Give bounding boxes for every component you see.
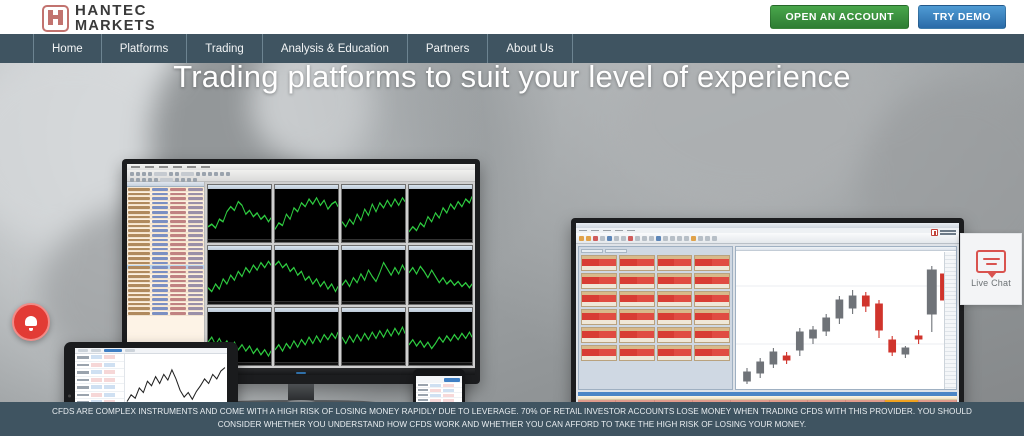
viking-workspace — [576, 244, 959, 392]
main-navigation: Home Platforms Trading Analysis & Educat… — [0, 34, 1024, 63]
monitor-bezel-right — [571, 218, 964, 403]
metatrader-platform-ui — [127, 164, 475, 368]
price-tile[interactable] — [581, 309, 617, 325]
price-tile[interactable] — [619, 255, 655, 271]
mt4-chart-window[interactable] — [274, 307, 339, 366]
bell-icon — [25, 316, 37, 329]
viking-price-tiles-panel — [578, 246, 733, 390]
mt4-chart-window[interactable] — [341, 307, 406, 366]
monitor-screen-left — [127, 164, 475, 368]
price-tile[interactable] — [657, 327, 693, 343]
live-chat-label: Live Chat — [971, 278, 1011, 288]
hero-banner: Trading platforms to suit your level of … — [0, 63, 1024, 403]
try-demo-button[interactable]: TRY DEMO — [918, 5, 1006, 29]
tablet-screen — [75, 348, 227, 403]
tablet-watchlist[interactable] — [75, 354, 125, 403]
top-actions: OPEN AN ACCOUNT TRY DEMO — [770, 5, 1006, 29]
page-root: HANTEC MARKETS OPEN AN ACCOUNT TRY DEMO … — [0, 0, 1024, 436]
open-an-account-button[interactable]: OPEN AN ACCOUNT — [770, 5, 908, 29]
price-tile[interactable] — [694, 309, 730, 325]
viking-candlestick-chart[interactable] — [735, 246, 957, 390]
candlestick-series — [736, 252, 956, 390]
logo-line-2: MARKETS — [75, 19, 156, 34]
smartphone-device — [413, 369, 465, 403]
phone-quotes-list[interactable] — [416, 383, 462, 403]
site-logo[interactable]: HANTEC MARKETS — [42, 3, 156, 34]
viking-price-axis — [944, 252, 956, 389]
phone-app-header — [416, 376, 462, 383]
hantec-h-logo-icon — [42, 5, 69, 32]
nav-item-trading[interactable]: Trading — [186, 34, 262, 63]
viking-trader-logo-icon — [931, 229, 956, 236]
mt4-chart-window[interactable] — [207, 245, 272, 304]
viking-trader-platform-ui — [576, 223, 959, 403]
nav-item-analysis-education[interactable]: Analysis & Education — [262, 34, 407, 63]
viking-toolbar — [576, 233, 959, 244]
price-tile[interactable] — [581, 273, 617, 289]
mt4-chart-window[interactable] — [408, 307, 473, 366]
tablet-line-chart[interactable] — [125, 354, 227, 403]
notification-bell-button[interactable] — [12, 303, 50, 341]
price-tile[interactable] — [694, 327, 730, 343]
mt4-chart-window[interactable] — [341, 245, 406, 304]
viking-price-tile-grid — [581, 255, 730, 361]
nav-item-about-us[interactable]: About Us — [487, 34, 572, 63]
mt4-chart-window[interactable] — [408, 184, 473, 243]
tablet-device — [64, 342, 238, 403]
monitor-screen-right — [576, 223, 959, 403]
price-tile[interactable] — [657, 255, 693, 271]
price-tile[interactable] — [657, 309, 693, 325]
price-tile[interactable] — [694, 291, 730, 307]
logo-line-1: HANTEC — [75, 3, 156, 18]
price-tile[interactable] — [657, 273, 693, 289]
hero-headline: Trading platforms to suit your level of … — [0, 63, 1024, 95]
mt4-chart-window[interactable] — [408, 245, 473, 304]
top-bar: HANTEC MARKETS OPEN AN ACCOUNT TRY DEMO — [0, 0, 1024, 34]
nav-item-home[interactable]: Home — [33, 34, 101, 63]
price-tile[interactable] — [619, 273, 655, 289]
mt4-toolbar — [127, 170, 475, 182]
desktop-monitor-viking-trader — [571, 218, 964, 403]
risk-warning-bar: CFDS ARE COMPLEX INSTRUMENTS AND COME WI… — [0, 402, 1024, 436]
nav-item-partners[interactable]: Partners — [407, 34, 487, 63]
price-tile[interactable] — [657, 291, 693, 307]
price-tile[interactable] — [657, 345, 693, 361]
price-tile[interactable] — [581, 255, 617, 271]
nav-item-platforms[interactable]: Platforms — [101, 34, 187, 63]
price-tile[interactable] — [694, 345, 730, 361]
mt4-chart-window[interactable] — [341, 184, 406, 243]
mt4-market-watch-panel — [127, 182, 205, 368]
price-tile[interactable] — [694, 255, 730, 271]
mt4-chart-grid — [205, 182, 475, 368]
mt4-workspace — [127, 182, 475, 368]
tablet-bezel — [64, 342, 238, 403]
price-tile[interactable] — [581, 327, 617, 343]
price-tile[interactable] — [581, 345, 617, 361]
mt4-chart-window[interactable] — [207, 184, 272, 243]
price-tile[interactable] — [694, 273, 730, 289]
mt4-chart-window[interactable] — [274, 245, 339, 304]
mt4-chart-window[interactable] — [274, 184, 339, 243]
chat-bubble-icon — [976, 250, 1006, 273]
price-tile[interactable] — [619, 327, 655, 343]
price-tile[interactable] — [619, 291, 655, 307]
logo-wordmark: HANTEC MARKETS — [75, 3, 156, 34]
phone-screen — [416, 376, 462, 403]
phone-bezel — [413, 369, 465, 403]
live-chat-widget[interactable]: Live Chat — [960, 233, 1022, 305]
price-tile[interactable] — [581, 291, 617, 307]
risk-warning-text: CFDS ARE COMPLEX INSTRUMENTS AND COME WI… — [47, 406, 977, 431]
power-led-icon — [296, 372, 306, 374]
monitor-stand-neck-left — [288, 384, 314, 400]
price-tile[interactable] — [619, 309, 655, 325]
price-tile[interactable] — [619, 345, 655, 361]
